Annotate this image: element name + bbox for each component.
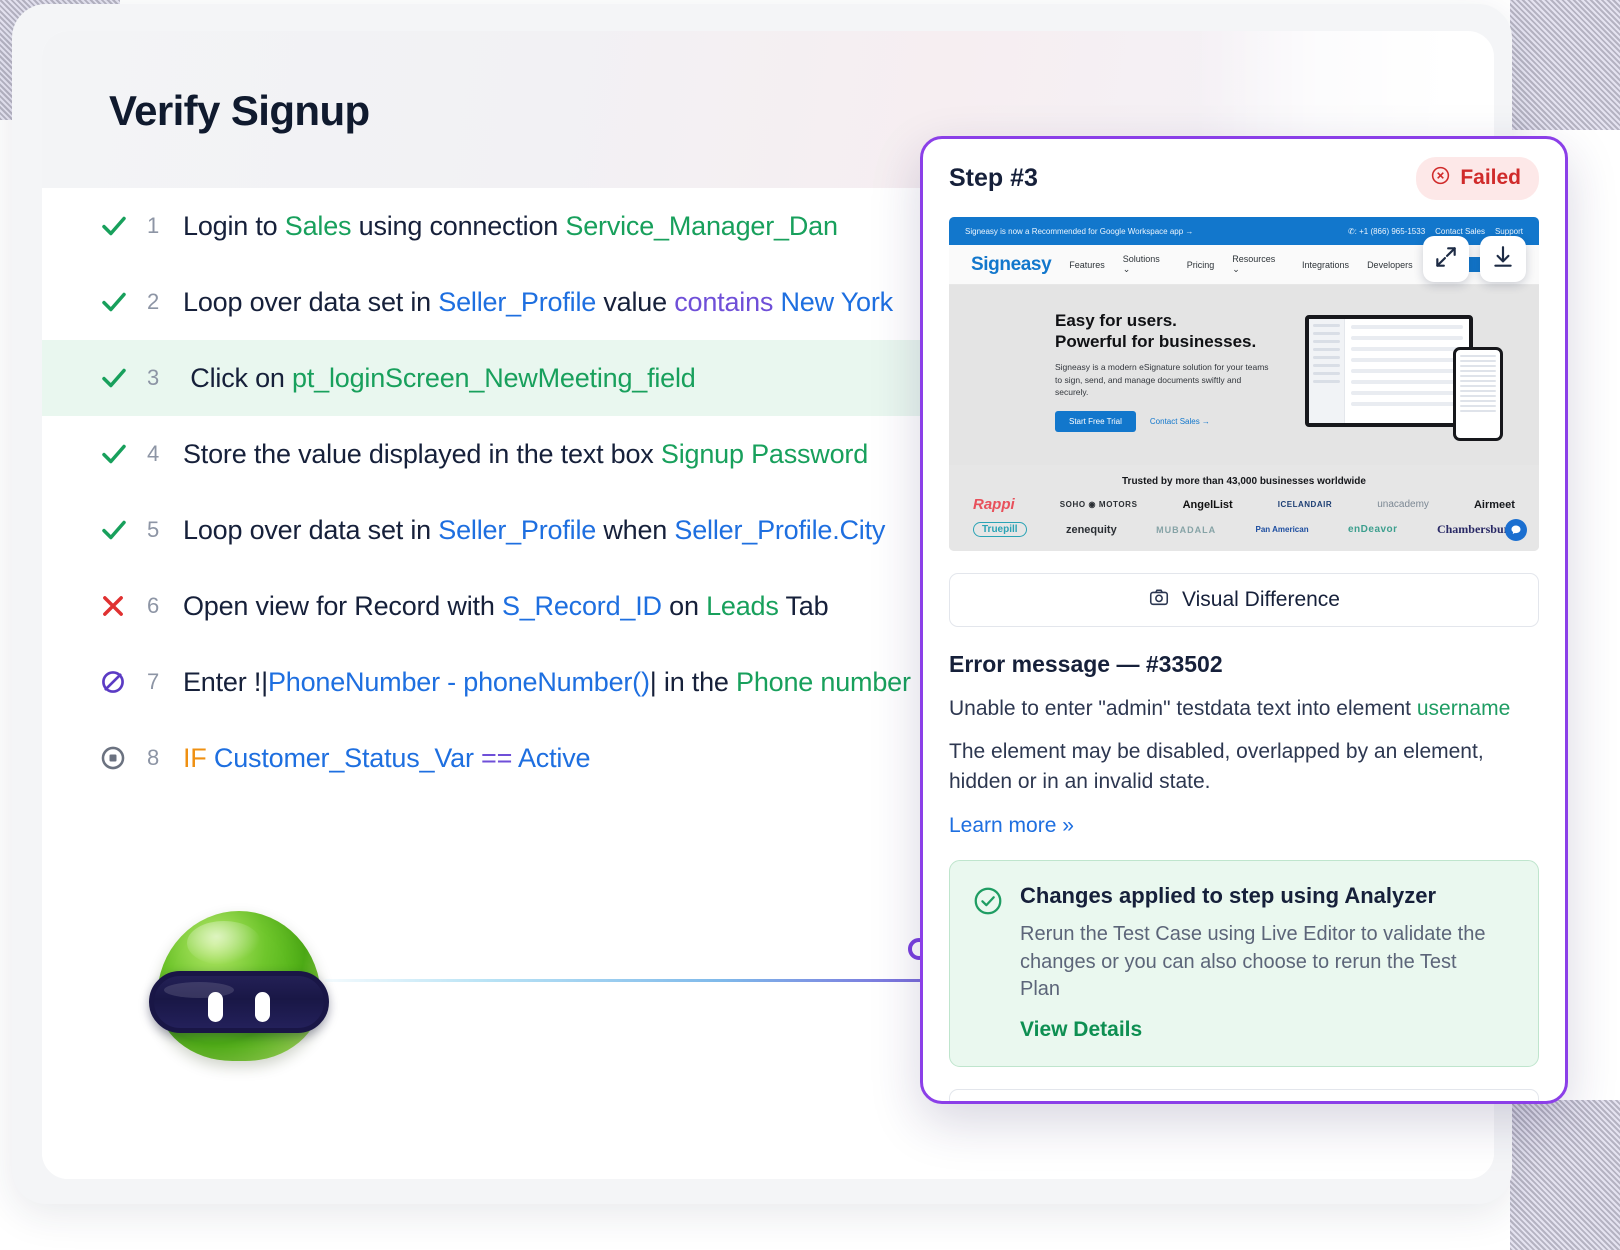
step-description: Loop over data set in Seller_Profile whe… [183, 515, 885, 546]
corner-noise-artifact [1510, 0, 1620, 130]
contact-sales-link: Contact Sales [1435, 227, 1485, 236]
chat-widget-bubble-icon[interactable] [1505, 519, 1527, 541]
step-description: Click on pt_loginScreen_NewMeeting_field [183, 363, 696, 394]
camera-icon [1148, 586, 1170, 614]
support-link: Support [1495, 227, 1523, 236]
step-number: 6 [139, 593, 183, 619]
nav-item: Pricing [1187, 260, 1215, 270]
step-token: Seller_Profile [438, 515, 596, 545]
step-description: Open view for Record with S_Record_ID on… [183, 591, 828, 622]
step-token: Open view for Record with [183, 591, 502, 621]
logo-icelandair: ICELANDAIR [1278, 500, 1332, 509]
laptop-sidebar [1309, 319, 1345, 423]
learn-more-link[interactable]: Learn more » [949, 814, 1539, 838]
hero-primary-cta: Start Free Trial [1055, 411, 1136, 432]
step-token: in the [657, 667, 736, 697]
logo-angellist: AngelList [1183, 499, 1233, 511]
hero-paragraph: Signeasy is a modern eSignature solution… [1055, 361, 1270, 398]
step-number: 5 [139, 517, 183, 543]
step-token: PhoneNumber - phoneNumber() [268, 667, 650, 697]
step-token: Loop over data set in [183, 515, 438, 545]
step-description: Loop over data set in Seller_Profile val… [183, 287, 893, 318]
step-token: == [481, 743, 512, 773]
step-number: 8 [139, 745, 183, 771]
status-badge-label: Failed [1460, 166, 1521, 190]
panel-step-title: Step #3 [949, 164, 1038, 193]
step-token: Service_Manager_Dan [565, 211, 837, 241]
nav-item: Resources ⌄ [1232, 254, 1284, 275]
slashed-circle-icon [99, 668, 139, 696]
logo-airmeet: Airmeet [1474, 499, 1515, 511]
download-screenshot-button[interactable] [1480, 236, 1526, 282]
step-token: Login to [183, 211, 285, 241]
step-token: IF [183, 743, 207, 773]
step-description: IF Customer_Status_Var == Active [183, 743, 590, 774]
step-token: Signup Password [661, 439, 868, 469]
step-token: Customer_Status_Var [207, 743, 481, 773]
logo-row-2: Truepill zenequity MUBADALA Pan American… [973, 522, 1515, 537]
download-icon [1490, 244, 1516, 275]
view-details-link[interactable]: View Details [1020, 1018, 1514, 1042]
stop-circle-icon [99, 744, 139, 772]
step-screenshot-thumbnail[interactable]: Signeasy is now a Recommended for Google… [949, 217, 1539, 551]
mascot-eye-right [255, 992, 270, 1022]
corner-noise-artifact [1510, 1100, 1620, 1250]
step-token: S_Record_ID [502, 591, 662, 621]
mascot-panel-connector-line [325, 979, 965, 982]
check-icon [99, 211, 139, 241]
failed-circle-x-icon [1430, 165, 1451, 192]
visual-difference-label: Visual Difference [1182, 588, 1340, 612]
step-description: Login to Sales using connection Service_… [183, 211, 838, 242]
laptop-mockup [1305, 315, 1473, 427]
step-token: New York [773, 287, 893, 317]
contact-phone: ✆: +1 (866) 965-1533 [1348, 227, 1425, 236]
nav-item: Developers [1367, 260, 1413, 270]
step-number: 1 [139, 213, 183, 239]
error-message-line-1: Unable to enter "admin" testdata text in… [949, 694, 1539, 723]
check-icon [99, 363, 139, 393]
run-using-live-editor-button[interactable]: Run using Live Editor [949, 1089, 1539, 1104]
logo-soho-motors: SOHO ◉ MOTORS [1060, 500, 1138, 509]
step-token: on [662, 591, 706, 621]
status-badge: Failed [1416, 157, 1539, 200]
screenshot-root: Verify Signup 1Login to Sales using conn… [0, 0, 1620, 1250]
nav-item: Integrations [1302, 260, 1349, 270]
mascot-eye-left [208, 992, 223, 1022]
logo-rappi: Rappi [973, 496, 1015, 513]
check-icon [99, 515, 139, 545]
logo-endeavor: enDeavor [1348, 524, 1398, 535]
error-text-prefix: Unable to enter "admin" testdata text in… [949, 697, 1417, 720]
step-token: !| [254, 667, 268, 697]
mascot-highlight [187, 921, 261, 965]
step-token: Loop over data set in [183, 287, 438, 317]
logo-chambersburg: Chambersburg [1437, 522, 1515, 537]
step-number: 4 [139, 441, 183, 467]
logo-pan-american: Pan American [1256, 525, 1309, 534]
analyzer-body-text: Rerun the Test Case using Live Editor to… [1020, 921, 1490, 1004]
mascot-visor [149, 971, 329, 1033]
step-token: Click on [183, 363, 292, 393]
laptop-content [1345, 319, 1469, 423]
step-token: value [596, 287, 674, 317]
step-number: 2 [139, 289, 183, 315]
logo-zenequity: zenequity [1066, 524, 1117, 536]
logo-unacademy: unacademy [1377, 499, 1429, 510]
step-token: Store the value displayed in the text bo… [183, 439, 661, 469]
step-token: Phone number [736, 667, 911, 697]
error-element-name: username [1417, 697, 1510, 720]
nav-item: Features [1069, 260, 1105, 270]
step-token: Seller_Profile [438, 287, 596, 317]
step-number: 3 [139, 365, 183, 391]
error-message-heading: Error message — #33502 [949, 651, 1539, 678]
visual-difference-button[interactable]: Visual Difference [949, 573, 1539, 627]
cross-icon [99, 592, 139, 620]
expand-screenshot-button[interactable] [1423, 236, 1469, 282]
site-hero-section: Easy for users. Powerful for businesses.… [949, 285, 1539, 465]
hero-secondary-cta: Contact Sales → [1150, 417, 1210, 426]
error-message-line-2: The element may be disabled, overlapped … [949, 737, 1539, 796]
step-token: using connection [351, 211, 565, 241]
step-number: 7 [139, 669, 183, 695]
trusted-by-text: Trusted by more than 43,000 businesses w… [949, 465, 1539, 487]
panel-header: Step #3 Failed [923, 139, 1565, 217]
logo-truepill: Truepill [973, 522, 1027, 537]
phone-mockup [1453, 347, 1503, 441]
signeasy-logo: Signeasy [971, 254, 1051, 276]
step-token: pt_loginScreen_NewMeeting_field [292, 363, 696, 393]
step-token: Seller_Profile.City [674, 515, 885, 545]
customer-logo-band: Rappi SOHO ◉ MOTORS AngelList ICELANDAIR… [949, 487, 1539, 551]
step-token: Enter [183, 667, 254, 697]
step-token: Active [512, 743, 590, 773]
step-token: Sales [285, 211, 352, 241]
announcement-text: Signeasy is now a Recommended for Google… [965, 227, 1193, 236]
step-description: Store the value displayed in the text bo… [183, 439, 868, 470]
step-token: | [650, 667, 657, 697]
step-token: contains [674, 287, 773, 317]
step-token: Leads [706, 591, 779, 621]
step-token: Tab [779, 591, 829, 621]
expand-arrows-icon [1433, 244, 1459, 275]
step-token: when [596, 515, 674, 545]
check-icon [99, 287, 139, 317]
check-icon [99, 439, 139, 469]
check-circle-icon [972, 885, 1004, 1042]
hero-device-illustration [1305, 311, 1505, 441]
step-detail-panel: Step #3 Failed Signeasy is now a Recomme… [920, 136, 1568, 1104]
test-automation-bot-mascot [149, 911, 329, 1061]
analyzer-callout: Changes applied to step using Analyzer R… [949, 860, 1539, 1067]
logo-mubadala: MUBADALA [1156, 525, 1216, 535]
step-description: Enter !|PhoneNumber - phoneNumber()| in … [183, 667, 911, 698]
nav-item: Solutions ⌄ [1123, 254, 1169, 275]
analyzer-heading: Changes applied to step using Analyzer [1020, 883, 1514, 909]
page-title: Verify Signup [109, 87, 370, 135]
logo-row-1: Rappi SOHO ◉ MOTORS AngelList ICELANDAIR… [973, 496, 1515, 513]
